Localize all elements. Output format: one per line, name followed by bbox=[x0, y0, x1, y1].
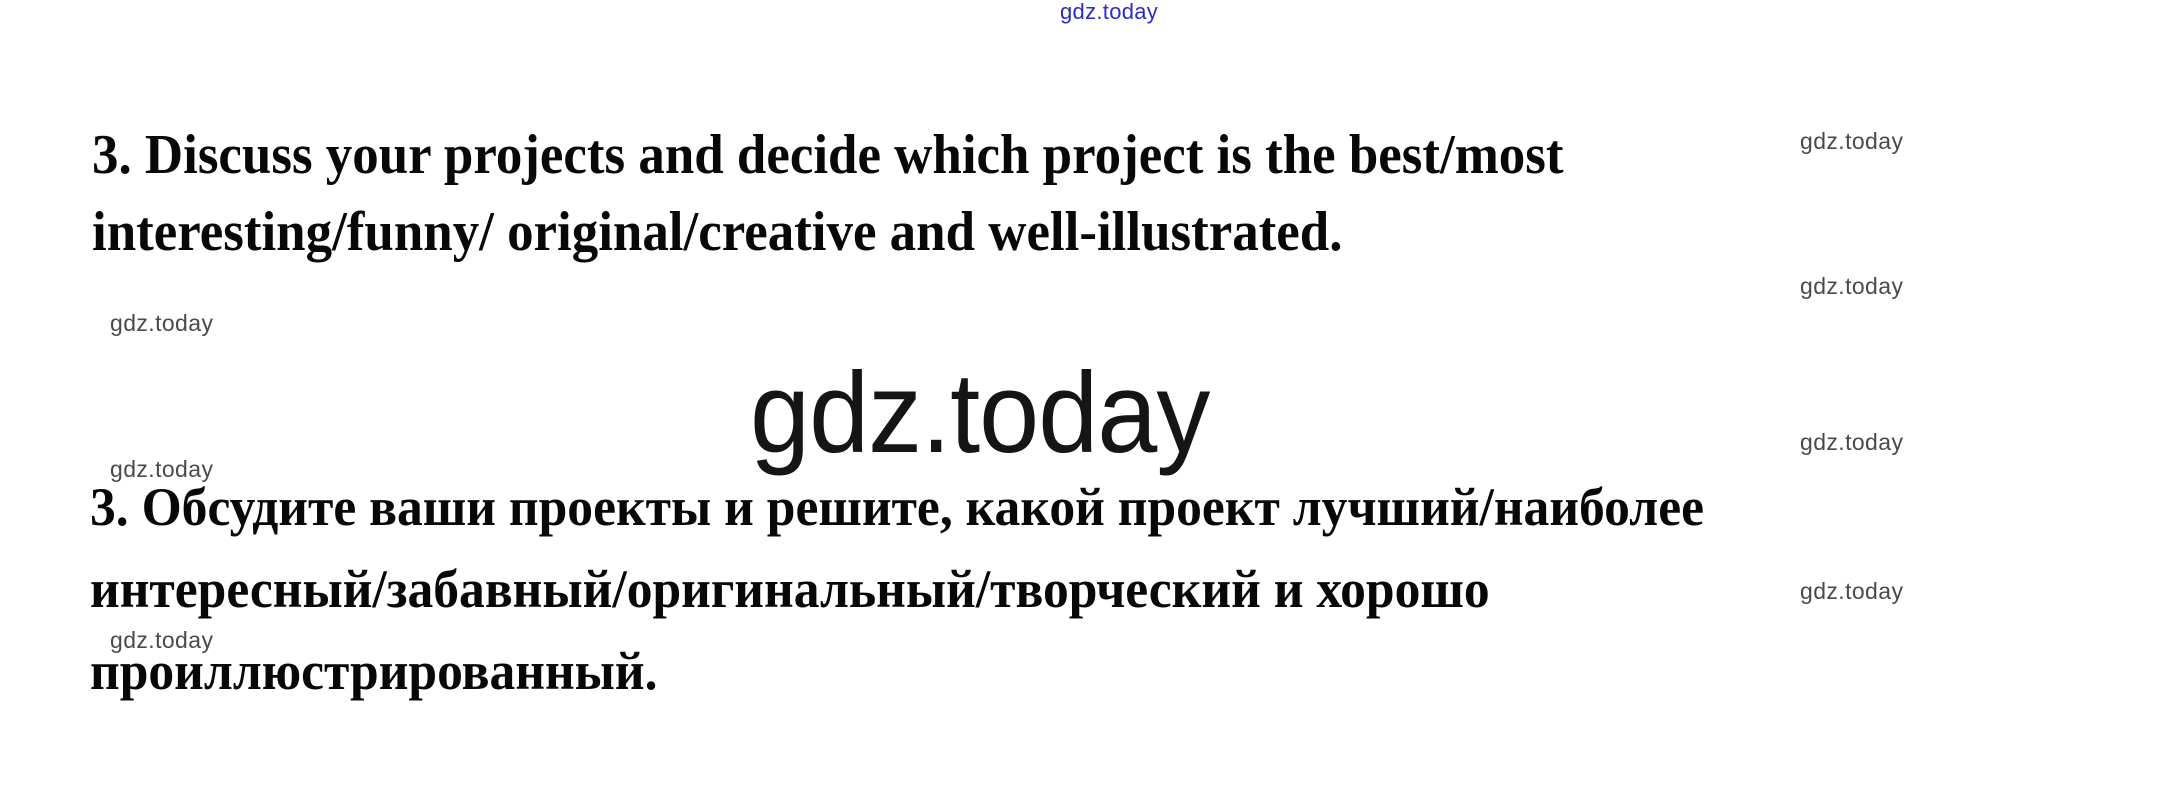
exercise-text-english: 3. Discuss your projects and decide whic… bbox=[92, 117, 1563, 271]
watermark-right-1: gdz.today bbox=[1800, 128, 1903, 155]
russian-line-1: 3. Обсудите ваши проекты и решите, какой… bbox=[90, 467, 1704, 547]
watermark-right-3: gdz.today bbox=[1800, 429, 1903, 456]
watermark-right-2: gdz.today bbox=[1800, 273, 1903, 300]
russian-line-2: интересный/забавный/оригинальный/творчес… bbox=[90, 547, 1704, 631]
exercise-text-russian: 3. Обсудите ваши проекты и решите, какой… bbox=[90, 467, 1704, 711]
english-line-1: 3. Discuss your projects and decide whic… bbox=[92, 117, 1563, 194]
watermark-left-1: gdz.today bbox=[110, 310, 213, 337]
watermark-left-3: gdz.today bbox=[110, 627, 213, 654]
watermark-top: gdz.today bbox=[1060, 0, 1158, 25]
english-line-2: interesting/funny/ original/creative and… bbox=[92, 194, 1563, 271]
document-page: gdz.today 3. Discuss your projects and d… bbox=[0, 0, 2164, 798]
watermark-right-4: gdz.today bbox=[1800, 578, 1903, 605]
watermark-center-large: gdz.today bbox=[750, 346, 1209, 479]
russian-line-3: проиллюстрированный. bbox=[90, 631, 1704, 711]
